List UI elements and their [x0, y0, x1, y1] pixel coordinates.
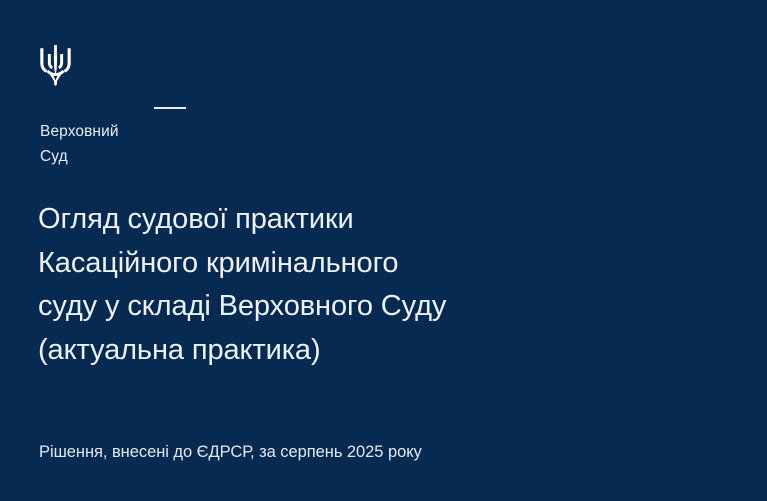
brand-name: ВерховнийСуд [40, 119, 300, 169]
title-slide: ВерховнийСуд Огляд судової практики Каса… [0, 0, 767, 501]
page-title: Огляд судової практики Касаційного кримі… [38, 198, 728, 372]
brand-name-line-1: Верховний [40, 123, 119, 140]
ukraine-trident-icon [40, 45, 71, 86]
page-title-line-3: суду у складі Верховного Суду [38, 285, 728, 329]
page-subtitle: Рішення, внесені до ЄДРСР, за серпень 20… [39, 441, 422, 463]
page-title-line-1: Огляд судової практики [38, 198, 728, 242]
page-title-line-2: Касаційного кримінального [38, 242, 728, 286]
supreme-court-brand: ВерховнийСуд [40, 45, 300, 169]
page-title-line-4: (актуальна практика) [38, 329, 728, 373]
brand-divider [154, 107, 186, 109]
brand-name-line-2: Суд [40, 148, 68, 165]
